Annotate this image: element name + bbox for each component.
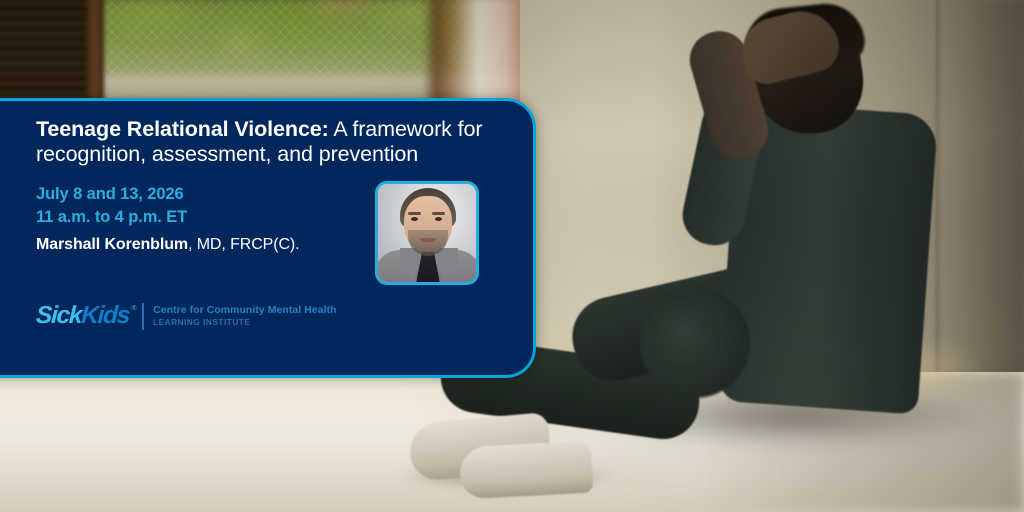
event-details-row: July 8 and 13, 2026 11 a.m. to 4 p.m. ET… (36, 181, 513, 285)
sickkids-logo[interactable]: SickKids® Centre for Community Mental He… (36, 303, 513, 330)
speaker-headshot (375, 181, 479, 285)
speaker-line: Marshall Korenblum, MD, FRCP(C). (36, 234, 300, 256)
wordmark-kids: Kids (81, 302, 130, 329)
info-panel-content: Teenage Relational Violence: A framework… (0, 101, 533, 375)
info-panel: Teenage Relational Violence: A framework… (0, 98, 536, 378)
event-title: Teenage Relational Violence: A framework… (36, 117, 506, 167)
logo-centre-name: Centre for Community Mental Health (153, 305, 337, 317)
headshot-eye-right (435, 217, 442, 221)
event-date: July 8 and 13, 2026 (36, 183, 300, 206)
event-title-lead: Teenage Relational Violence: (36, 117, 329, 141)
promotional-banner: Teenage Relational Violence: A framework… (0, 0, 1024, 512)
speaker-name: Marshall Korenblum (36, 236, 188, 253)
headshot-eyebrow-right (432, 212, 445, 215)
wordmark-sick: Sick (35, 302, 82, 329)
headshot-eyebrow-left (408, 212, 421, 215)
event-details: July 8 and 13, 2026 11 a.m. to 4 p.m. ET… (36, 181, 300, 256)
event-time: 11 a.m. to 4 p.m. ET (36, 206, 300, 229)
logo-lockup-text: Centre for Community Mental Health LEARN… (153, 305, 337, 327)
speaker-credentials: , MD, FRCP(C). (188, 236, 299, 253)
registered-trademark-icon: ® (131, 305, 137, 312)
sickkids-wordmark: SickKids® (35, 304, 136, 329)
headshot-eye-left (411, 217, 418, 221)
logo-institute-name: LEARNING INSTITUTE (153, 318, 337, 327)
headshot-mouth (420, 238, 436, 242)
logo-divider (142, 303, 144, 330)
